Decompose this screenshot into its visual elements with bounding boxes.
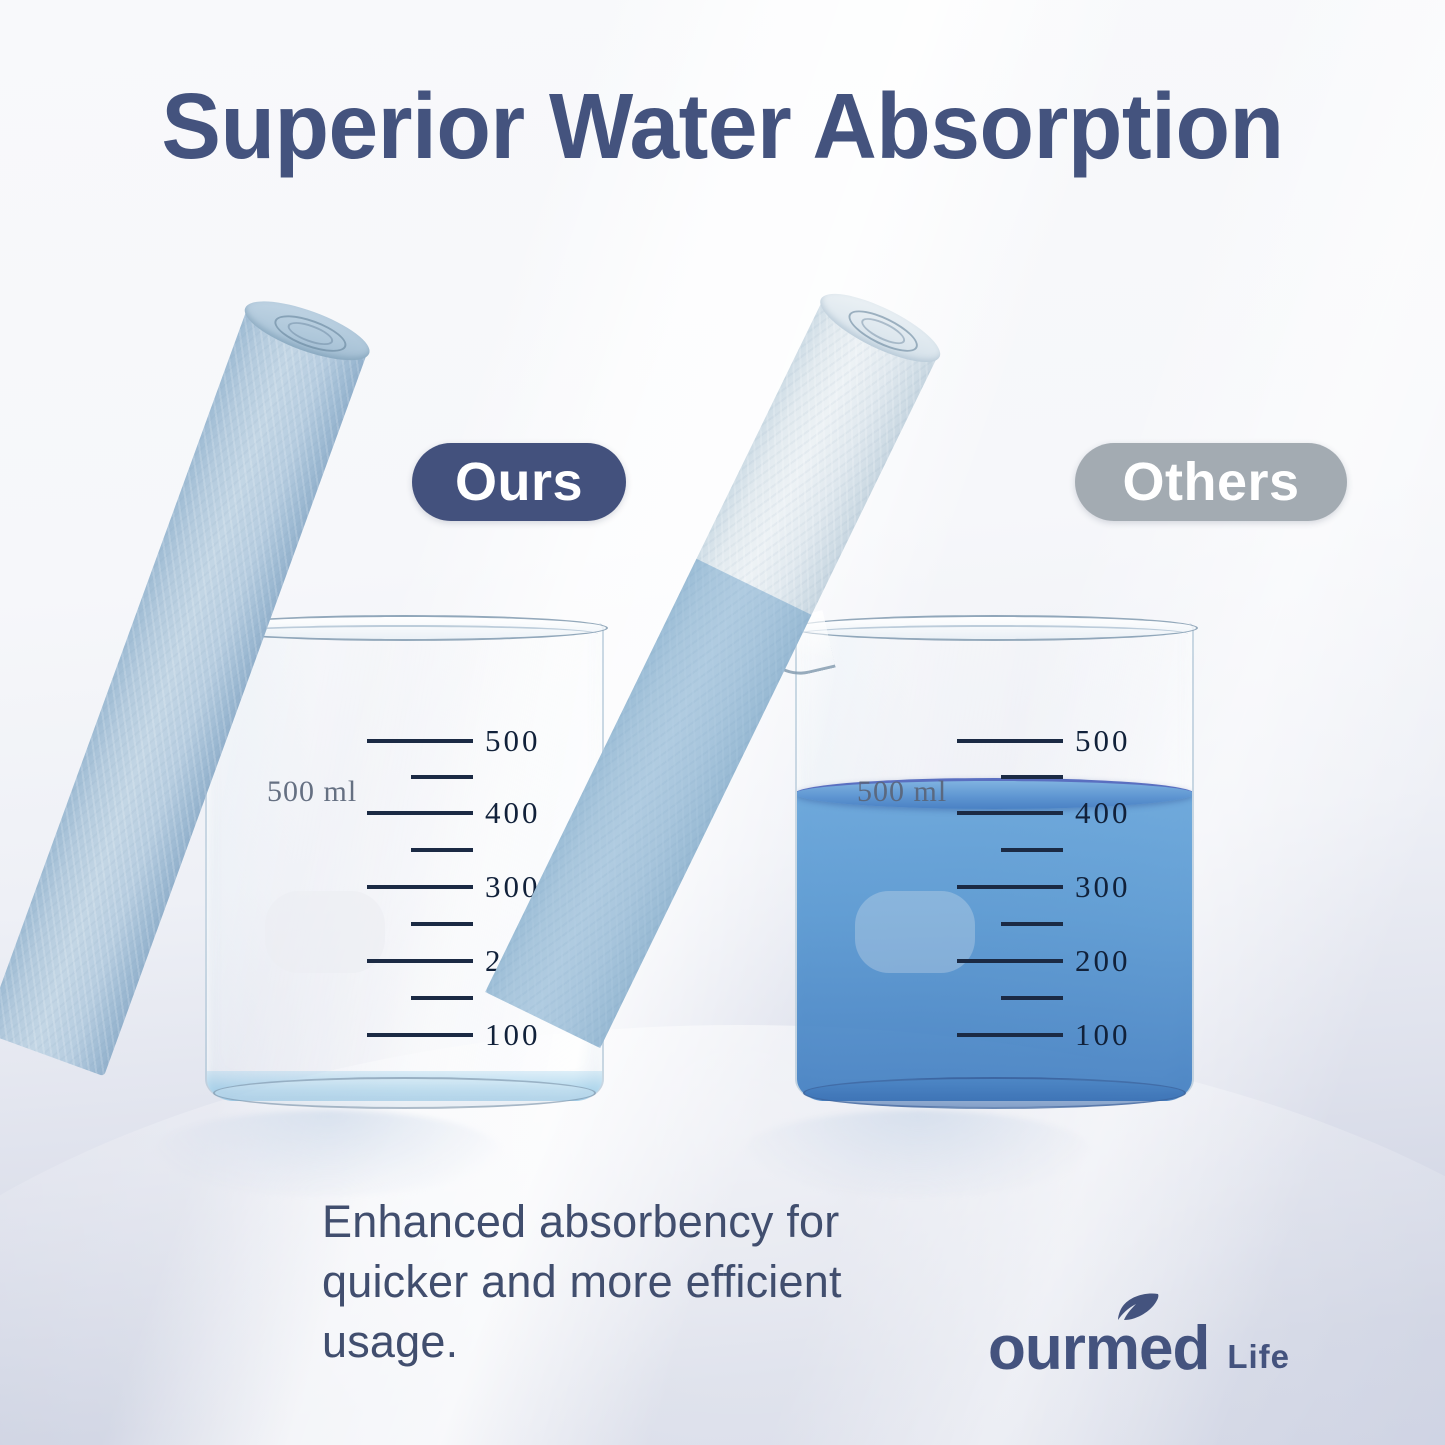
towel-texture: [0, 307, 368, 1076]
leaf-icon: [1116, 1292, 1160, 1322]
comparison-column-ours: 500 ml 500 400: [130, 0, 690, 1445]
infographic-canvas: Superior Water Absorption Ours Others 50…: [0, 0, 1445, 1445]
towel-roll-ours: [0, 290, 374, 1076]
brand-logo-name: ourmed: [988, 1314, 1209, 1383]
brand-logo-wordmark: ourmed: [988, 1318, 1209, 1380]
towel-roll-body-ours: [0, 307, 368, 1076]
brand-logo-suffix: Life: [1227, 1334, 1290, 1380]
brand-logo: ourmed Life: [988, 1318, 1290, 1380]
towel-roll-wrap-others: [720, 250, 1280, 1130]
comparison-column-others: 500 ml 500 400: [720, 0, 1280, 1445]
